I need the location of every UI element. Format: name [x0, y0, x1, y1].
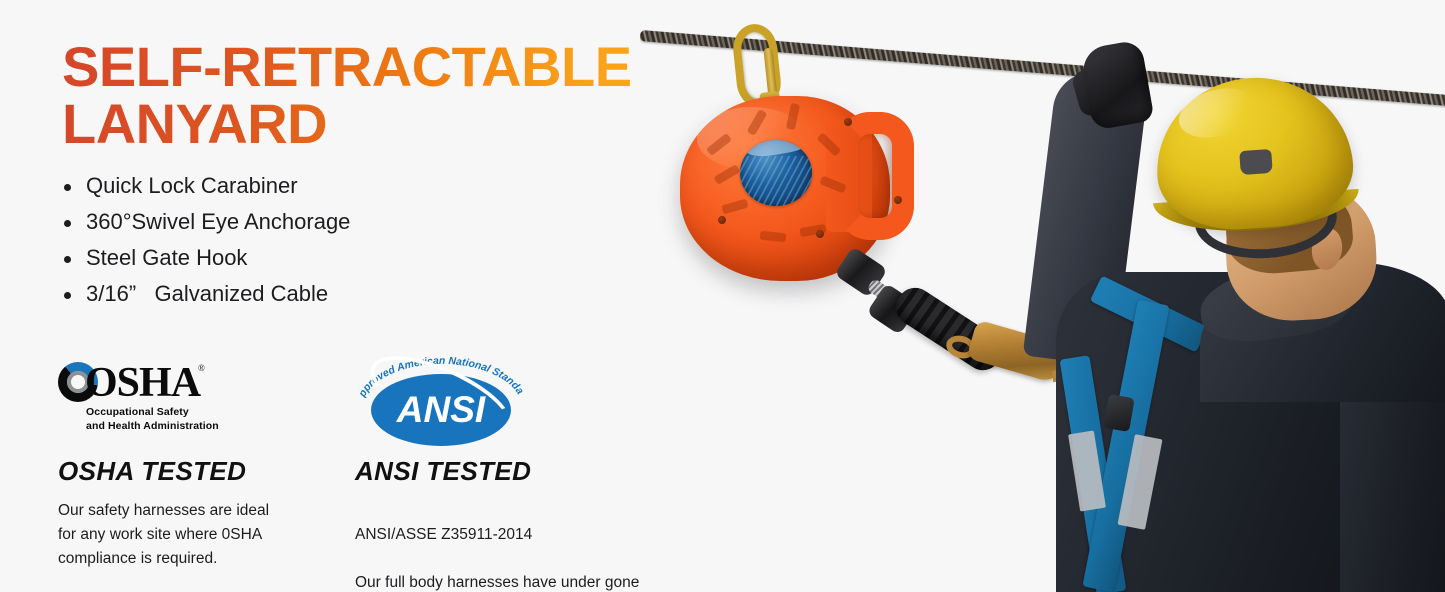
list-item: 3/16” Galvanized Cable: [60, 276, 350, 312]
osha-wordmark: OSHA ®: [58, 360, 248, 404]
page-title: SELF-RETRACTABLE LANYARD: [62, 38, 682, 152]
osha-logo-letters: OSHA: [85, 359, 200, 407]
srl-product-label-icon: [740, 140, 812, 206]
osha-logo-slot: OSHA ® Occupational Safety and Health Ad…: [58, 352, 328, 452]
work-glove-icon: [1079, 39, 1154, 131]
srl-handle-icon: [836, 112, 914, 240]
osha-body-text: Our safety harnesses are ideal for any w…: [58, 499, 328, 571]
osha-logo: OSHA ® Occupational Safety and Health Ad…: [58, 360, 248, 404]
product-banner: SELF-RETRACTABLE LANYARD Quick Lock Cara…: [0, 0, 1445, 592]
list-item: Steel Gate Hook: [60, 240, 350, 276]
product-photo: [640, 0, 1445, 592]
ansi-logo: Approved American National Standard ANSI: [357, 352, 527, 452]
srl-rivet-icon: [816, 230, 824, 238]
srl-rivet-icon: [844, 118, 852, 126]
osha-certification-block: OSHA ® Occupational Safety and Health Ad…: [58, 352, 328, 571]
list-item: Quick Lock Carabiner: [60, 168, 350, 204]
list-item: 360°Swivel Eye Anchorage: [60, 204, 350, 240]
helmet-vent-icon: [1239, 149, 1273, 175]
registered-trademark-icon: ®: [198, 363, 205, 373]
ansi-logo-letters: ANSI: [371, 374, 511, 446]
feature-list: Quick Lock Carabiner 360°Swivel Eye Anch…: [60, 168, 350, 311]
srl-rivet-icon: [894, 196, 902, 204]
osha-heading: OSHA TESTED: [58, 456, 328, 487]
osha-logo-tagline: Occupational Safety and Health Administr…: [86, 406, 219, 434]
srl-rivet-icon: [718, 216, 726, 224]
